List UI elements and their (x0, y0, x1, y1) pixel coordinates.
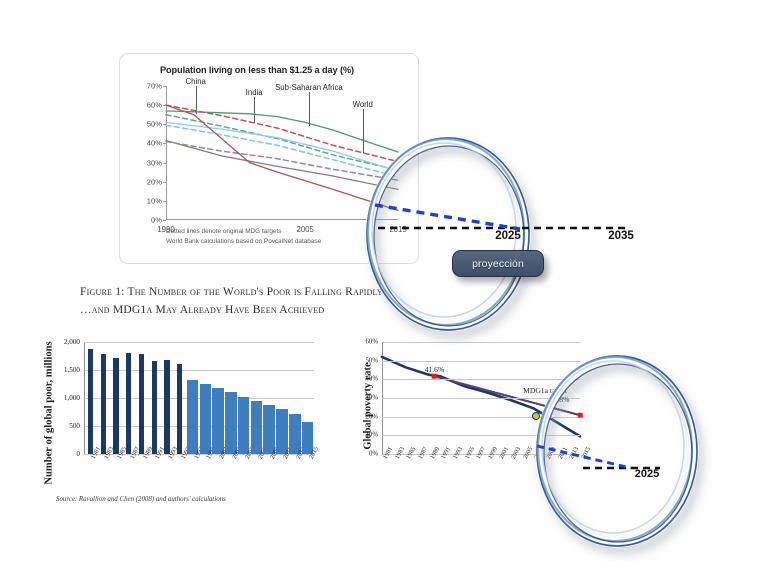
y-axis-tick-label: 1,500 (64, 366, 80, 374)
year-label-2025-bottom: 2025 (635, 468, 659, 480)
x-axis-tick-label: 2005 (297, 225, 314, 234)
figure-caption: Figure 1: The Number of the World's Poor… (80, 283, 500, 319)
gridline (382, 361, 580, 362)
leader-line (309, 92, 310, 126)
rate-plot-area: 0%10%20%30%40%50%60%19811983198519871989… (382, 342, 580, 454)
year-label-2025-top: 2025 (495, 230, 521, 242)
y-axis-tick-label: 0 (76, 450, 80, 458)
gridline (84, 342, 314, 343)
data-point-marker-square (578, 413, 583, 418)
chart-annotation-label: 20.8% (550, 395, 570, 404)
chart-title: Population living on less than $1.25 a d… (160, 65, 410, 75)
y-axis-tick-label: 10% (147, 196, 162, 205)
y-axis-tick-label: 10% (366, 432, 378, 439)
y-axis-tick-label: 1,000 (64, 394, 80, 402)
bar (164, 360, 169, 454)
source-note: Source: Ravallion and Chen (2008) and au… (56, 496, 226, 503)
x-axis-tick-label: 2015 (389, 225, 406, 234)
y-axis-tick-mark (163, 163, 166, 164)
y-axis-tick-mark (163, 182, 166, 183)
bar (88, 349, 93, 454)
y-axis-tick-label: 50% (147, 120, 162, 129)
y-axis-tick-label: 0% (151, 216, 162, 225)
bar (101, 354, 106, 454)
y-axis-tick-mark (163, 201, 166, 202)
projection-callout-label: proyección (472, 258, 524, 270)
projection-callout-badge[interactable]: proyección (452, 250, 544, 277)
leader-line (254, 97, 255, 123)
data-point-marker-square (432, 374, 437, 379)
y-axis-tick-label: 50% (366, 357, 378, 364)
gridline (382, 435, 580, 436)
presentation-slide: Population living on less than $1.25 a d… (0, 0, 768, 561)
year-label-2035-top: 2035 (608, 230, 634, 242)
bar (152, 361, 157, 454)
bar (238, 397, 250, 454)
chart-annotation-label: MDG1a target (523, 386, 567, 395)
figure-caption-line-2: …and MDG1a May Already Have Been Achieve… (80, 301, 500, 319)
chart-note-1: Dotted lines denote original MDG targets (166, 228, 281, 235)
bar (113, 358, 118, 454)
y-axis-tick-label: 40% (147, 139, 162, 148)
series-annotation-label: India (246, 88, 263, 97)
y-axis-tick-label: 30% (366, 395, 378, 402)
bar (212, 388, 224, 454)
y-axis-tick-label: 60% (147, 101, 162, 110)
poverty-share-plot-area: 0%10%20%30%40%50%60%70%199020052015China… (166, 86, 398, 220)
figure-caption-line-1: Figure 1: The Number of the World's Poor… (80, 283, 500, 301)
gridline (382, 379, 580, 380)
global-poverty-rate-chart-panel: Global poverty rate 0%10%20%30%40%50%60%… (336, 330, 636, 495)
y-axis-tick-label: 2,000 (64, 338, 80, 346)
bar-chart-y-axis-label: Number of global poor, millions (44, 338, 55, 488)
y-axis-tick-label: 500 (69, 422, 80, 430)
gridline (382, 417, 580, 418)
y-axis-tick-label: 60% (366, 339, 378, 346)
series-annotation-label: World (353, 100, 373, 109)
y-axis-tick-mark (163, 143, 166, 144)
data-point-marker-circle (532, 412, 540, 420)
y-axis-tick-label: 0% (369, 451, 378, 458)
y-axis-tick-label: 30% (147, 158, 162, 167)
y-axis-tick-mark (163, 105, 166, 106)
bar (177, 364, 182, 454)
bar (200, 384, 212, 454)
chart-note-2: World Bank calculations based on PovcalN… (166, 238, 321, 245)
bar (139, 354, 144, 454)
y-axis-tick-label: 40% (366, 376, 378, 383)
y-axis-tick-mark (163, 220, 166, 221)
chart-annotation-label: 41.6% (425, 365, 445, 374)
bar-plot-area: 05001,0001,5002,000198119831985198719891… (84, 342, 314, 454)
y-axis-tick-mark (163, 86, 166, 87)
series-annotation-label: Sub-Saharan Africa (275, 83, 343, 92)
y-axis-tick-label: 20% (366, 413, 378, 420)
global-poor-bar-chart-panel: Number of global poor, millions 05001,00… (18, 330, 338, 495)
bar (251, 401, 263, 454)
y-axis-tick-label: 20% (147, 177, 162, 186)
y-axis-tick-label: 70% (147, 82, 162, 91)
leader-line (196, 86, 197, 114)
bar (126, 353, 131, 454)
gridline (382, 342, 580, 343)
series-annotation-label: China (186, 77, 206, 86)
bar (187, 380, 199, 454)
poverty-share-chart-panel: Population living on less than $1.25 a d… (119, 53, 419, 264)
x-axis-tick-label: 2015 (580, 446, 592, 460)
bar (225, 392, 237, 454)
y-axis-tick-mark (163, 124, 166, 125)
leader-line (363, 109, 364, 153)
